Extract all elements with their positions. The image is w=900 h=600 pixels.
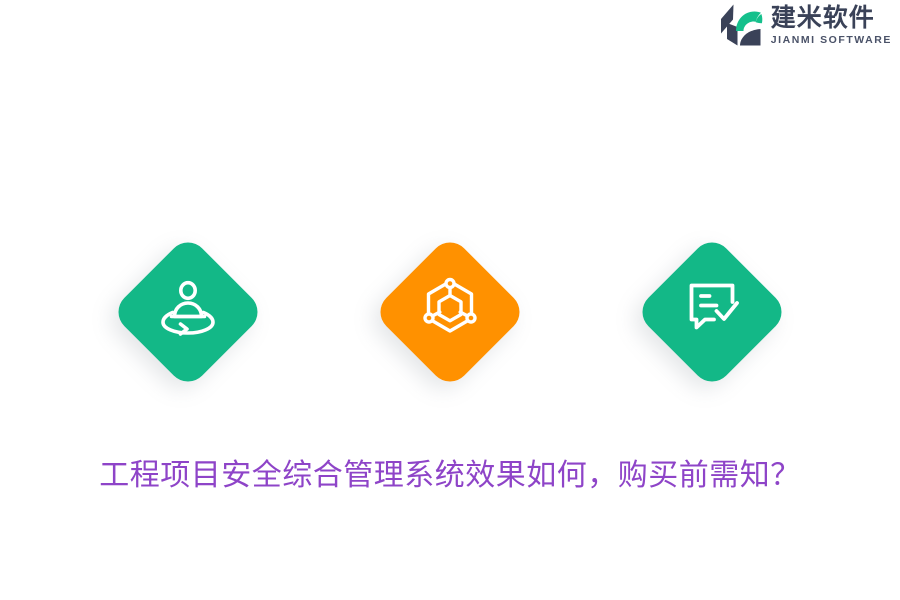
brand-logo[interactable]: 建米软件 JIANMI SOFTWARE [715,0,892,50]
feature-item-2[interactable] [370,222,530,402]
brand-name-en: JIANMI SOFTWARE [771,35,892,46]
page-title: 工程项目安全综合管理系统效果如何，购买前需知？ [0,455,900,497]
feature-icon-row [0,222,900,402]
person-orbit-icon [156,274,220,338]
brand-name-cn: 建米软件 [771,5,892,30]
jianmi-logo-icon [715,3,763,47]
brand-text: 建米软件 JIANMI SOFTWARE [771,5,892,46]
feature-item-1[interactable] [108,222,268,402]
hexagon-network-icon [418,274,482,338]
feature-item-3[interactable] [632,222,792,402]
chat-bubble-check-icon [680,274,744,338]
